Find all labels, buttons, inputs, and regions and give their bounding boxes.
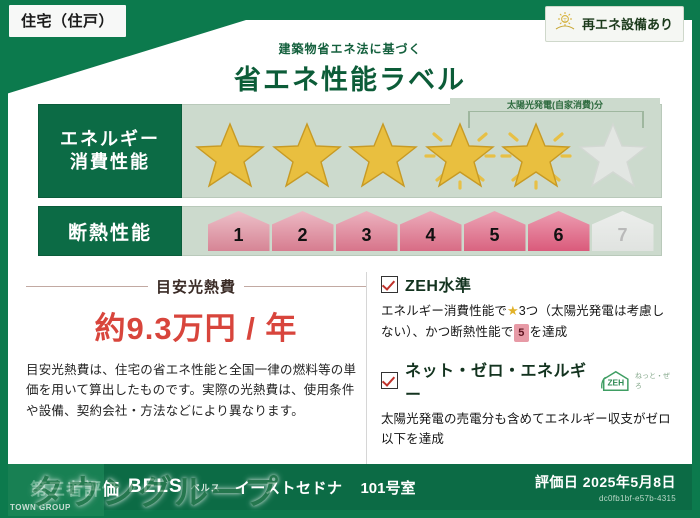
insulation-level-number: 3 [361, 225, 371, 251]
solar-caption: 太陽光発電(自家消費)分 [450, 98, 660, 111]
utility-cost-heading: 目安光熱費 [26, 276, 366, 297]
inline-level-pill: 5 [514, 324, 528, 342]
star-filled-icon [194, 120, 266, 192]
sun-icon: エ [554, 11, 576, 36]
zeh-standard-body: エネルギー消費性能で★3つ（太陽光発電は考慮しない）、かつ断熱性能で5を達成 [381, 300, 674, 343]
star-filled-icon [347, 120, 419, 192]
zeh-standard-title: ZEH水準 [405, 272, 472, 296]
net-zero-heading: ネット・ゼロ・エネルギー ZEH ねっと・ぜろ [381, 357, 674, 405]
star-filled-icon [271, 120, 343, 192]
insulation-level-number: 2 [297, 225, 307, 251]
rule-right [244, 286, 366, 287]
evaluation-id: dc0fb1bf-e57b-4315 [535, 494, 676, 503]
insulation-field: 1234567 [182, 206, 662, 256]
rule-left [26, 286, 148, 287]
bels-mark: BELS [128, 476, 183, 498]
net-zero-energy-item: ネット・ゼロ・エネルギー ZEH ねっと・ぜろ 太陽光発電の売電分も含めてエネル… [381, 357, 674, 451]
evaluation-info: 評価日 2025年5月8日 dc0fb1bf-e57b-4315 [535, 472, 676, 503]
insulation-level-number: 1 [233, 225, 243, 251]
star-rating [182, 117, 661, 195]
dwelling-type-label: 住宅（住戸） [21, 13, 114, 30]
zeh-body-pre: エネルギー消費性能で [381, 304, 507, 318]
star-filled-icon [424, 120, 496, 192]
inline-star-icon: ★ [507, 303, 519, 318]
energy-performance-label: 住宅（住戸） エ 再エネ設備あり 建築物省エネ法に基づく 省エネ性能ラベル [0, 0, 700, 518]
zeh-house-logo-icon: ZEH ねっと・ぜろ [600, 369, 674, 393]
details-section: 目安光熱費 約9.3万円 / 年 目安光熱費は、住宅の省エネ性能と全国一律の燃料… [26, 272, 674, 464]
insulation-level-number: 6 [553, 225, 563, 251]
insulation-level-3: 3 [336, 211, 398, 251]
zeh-logo-caption: ねっと・ぜろ [635, 371, 674, 391]
utility-cost-value: 約9.3万円 / 年 [26, 303, 366, 348]
utility-cost-note: 目安光熱費は、住宅の省エネ性能と全国一律の燃料等の単価を用いて算出したものです。… [26, 360, 366, 421]
page-title: 省エネ性能ラベル [0, 58, 700, 97]
insulation-label-text: 断熱性能 [68, 218, 152, 245]
renewable-equipment-label: 再エネ設備あり [582, 14, 673, 33]
room-number: 101号室 [360, 477, 415, 498]
renewable-equipment-badge: エ 再エネ設備あり [545, 6, 684, 42]
dwelling-type-tab: 住宅（住戸） [8, 4, 127, 38]
net-zero-body: 太陽光発電の売電分も含めてエネルギー収支がゼロ以下を達成 [381, 409, 674, 451]
evaluation-date: 評価日 2025年5月8日 [535, 472, 676, 492]
star-empty-icon [577, 120, 649, 192]
header-subtitle: 建築物省エネ法に基づく [0, 40, 700, 57]
check-icon [381, 276, 398, 293]
energy-consumption-label: エネルギー 消費性能 [38, 104, 182, 198]
insulation-level-number: 4 [425, 225, 435, 251]
bels-sub-label: ベルス [191, 481, 221, 494]
utility-cost-title: 目安光熱費 [156, 276, 236, 297]
energy-consumption-field: 太陽光発電(自家消費)分 [182, 104, 662, 198]
zeh-standard-item: ZEH水準 エネルギー消費性能で★3つ（太陽光発電は考慮しない）、かつ断熱性能で… [381, 272, 674, 343]
label-header: 建築物省エネ法に基づく 省エネ性能ラベル [0, 40, 700, 97]
insulation-row: 断熱性能 1234567 [38, 206, 662, 256]
svg-text:エ: エ [562, 18, 567, 24]
utility-cost-column: 目安光熱費 約9.3万円 / 年 目安光熱費は、住宅の省エネ性能と全国一律の燃料… [26, 272, 366, 464]
zeh-body-post: を達成 [530, 325, 568, 339]
insulation-level-4: 4 [400, 211, 462, 251]
net-zero-title: ネット・ゼロ・エネルギー [405, 357, 589, 405]
energy-label-line1: エネルギー [60, 128, 160, 151]
insulation-level-number: 7 [617, 225, 627, 251]
insulation-level-2: 2 [272, 211, 334, 251]
label-footer: 第三者評価 BELS ベルス イーストセドナ 101号室 評価日 2025年5月… [8, 464, 692, 510]
building-name: イーストセドナ [235, 477, 343, 498]
standards-column: ZEH水準 エネルギー消費性能で★3つ（太陽光発電は考慮しない）、かつ断熱性能で… [366, 272, 674, 464]
svg-text:ZEH: ZEH [608, 377, 625, 387]
insulation-label: 断熱性能 [38, 206, 182, 256]
bels-label: 第三者評価 [30, 475, 120, 500]
insulation-level-7: 7 [592, 211, 654, 251]
zeh-standard-heading: ZEH水準 [381, 272, 674, 296]
insulation-level-number: 5 [489, 225, 499, 251]
energy-label-line2: 消費性能 [70, 151, 150, 174]
insulation-level-5: 5 [464, 211, 526, 251]
energy-consumption-row: エネルギー 消費性能 太陽光発電(自家消費)分 [38, 104, 662, 198]
insulation-level-6: 6 [528, 211, 590, 251]
bels-badge: 第三者評価 BELS ベルス [30, 475, 221, 500]
check-icon [381, 372, 398, 389]
insulation-level-scale: 1234567 [182, 207, 661, 255]
star-filled-icon [500, 120, 572, 192]
ratings-section: エネルギー 消費性能 太陽光発電(自家消費)分 断熱性能 1234567 [38, 104, 662, 264]
insulation-level-1: 1 [208, 211, 270, 251]
